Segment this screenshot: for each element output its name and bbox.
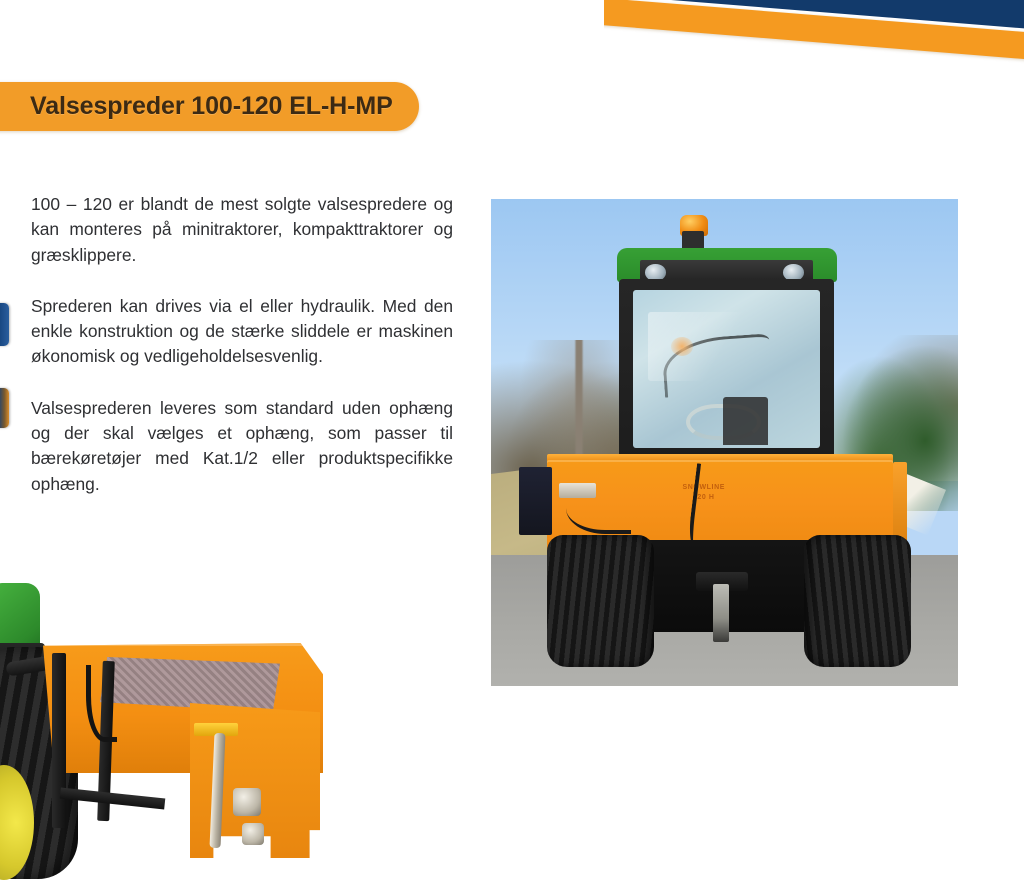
- cab-rear-window: [633, 290, 820, 448]
- mounting-frame-bar-1: [52, 653, 66, 828]
- brochure-page: Valsespreder 100-120 EL-H-MP 100 – 120 e…: [0, 0, 1024, 880]
- rear-wheel-right: [804, 535, 911, 666]
- pto-shaft: [713, 584, 729, 642]
- diagonal-corner-ribbon: [604, 0, 1024, 72]
- page-title-banner: Valsespreder 100-120 EL-H-MP: [0, 82, 419, 131]
- spreader-endplate-left: [519, 467, 552, 535]
- ribbon-navy-band: [604, 0, 1024, 51]
- bolt-lower: [242, 823, 264, 845]
- paragraph-1: 100 – 120 er blandt de mest solgte valse…: [31, 192, 453, 268]
- edge-tab-navy: [0, 303, 9, 346]
- ribbon-white-gap: [604, 0, 1024, 44]
- operator-glove: [671, 337, 693, 356]
- wiper-arm: [661, 333, 772, 397]
- work-light-right-icon: [783, 264, 804, 281]
- edge-tab-navy-orange: [0, 388, 9, 428]
- rear-wheel-left: [547, 535, 654, 666]
- ribbon-orange-band: [604, 0, 1024, 69]
- tractor-rear-with-roller-spreader-photo: SNOWLINE 120 H: [491, 199, 958, 686]
- roller-spreader-detail-photo: [0, 565, 352, 880]
- paragraph-3: Valsesprederen leveres som standard uden…: [31, 396, 453, 497]
- operator-seat: [723, 397, 768, 444]
- work-light-left-icon: [645, 264, 666, 281]
- body-copy: 100 – 120 er blandt de mest solgte valse…: [31, 192, 453, 497]
- bolt-upper: [233, 788, 261, 816]
- page-title: Valsespreder 100-120 EL-H-MP: [30, 92, 393, 121]
- paragraph-2: Sprederen kan drives via el eller hydrau…: [31, 294, 453, 370]
